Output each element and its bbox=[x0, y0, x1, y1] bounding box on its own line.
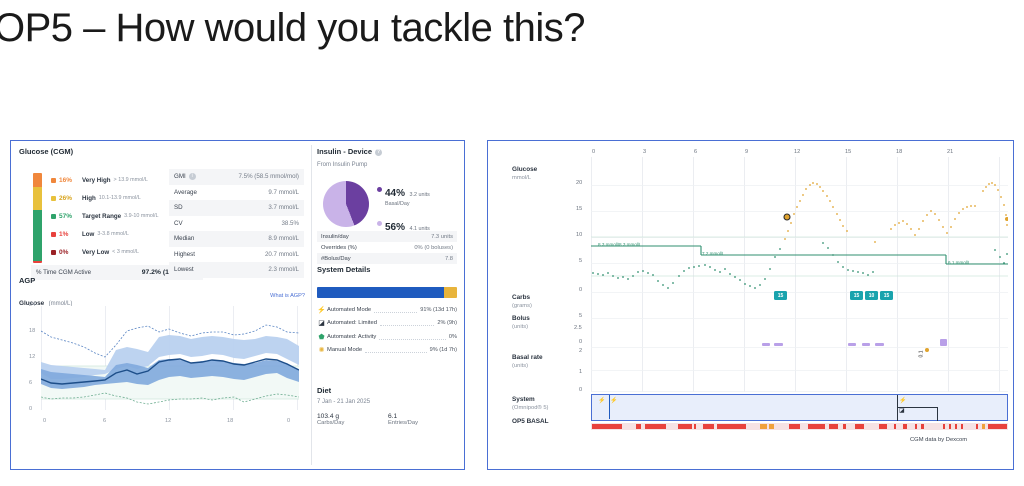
metric-key: SD bbox=[174, 204, 183, 211]
legend-range: < 3 mmol/L bbox=[112, 249, 139, 255]
metric-value: 3.7 mmol/L bbox=[268, 204, 299, 211]
x-tick: 6 bbox=[103, 418, 106, 424]
x-tick: 0 bbox=[43, 418, 46, 424]
table-row: #Bolus/Day 7.8 bbox=[317, 253, 457, 264]
basal-segment bbox=[949, 424, 951, 429]
row-sub-basal: (units) bbox=[512, 363, 528, 369]
target-label: 6.1 mmol/L bbox=[948, 260, 971, 265]
diet-section: Diet 7 Jan - 21 Jan 2025 103.4 g Carbs/D… bbox=[317, 386, 459, 426]
page-title: OP5 – How would you tackle this? bbox=[0, 6, 585, 51]
legend-range: 3.9-10 mmol/L bbox=[124, 213, 158, 219]
list-item: ✺ Manual Mode 9% (1d 7h) bbox=[317, 344, 457, 358]
row-label-op5-basal: OP5 BASAL bbox=[512, 418, 549, 425]
info-icon[interactable]: i bbox=[189, 173, 196, 180]
target-label: 8.3 mmol/L bbox=[598, 242, 621, 247]
mode-name: Automated Mode bbox=[327, 307, 371, 313]
bar-seg-high bbox=[33, 187, 42, 210]
diet-date-range: 7 Jan - 21 Jan 2025 bbox=[317, 399, 459, 405]
basal-segment bbox=[855, 424, 864, 429]
legend-name: Low bbox=[82, 231, 94, 238]
glucose-section-title: Glucose (CGM) bbox=[19, 147, 309, 156]
y-tick: 5 bbox=[579, 258, 582, 264]
gear-icon: ✺ bbox=[317, 346, 326, 354]
row-sub-carbs: (grams) bbox=[512, 303, 532, 309]
cgm-active-label: % Time CGM Active bbox=[36, 269, 91, 276]
system-mode-list: ⚡ Automated Mode 91% (13d 17h) ◪ Automat… bbox=[317, 303, 457, 357]
mode-value: 0% bbox=[449, 334, 457, 340]
legend-name: Very Low bbox=[82, 249, 109, 256]
basal-segment bbox=[843, 424, 846, 429]
basal-segment bbox=[915, 424, 917, 429]
basal-point-marker bbox=[925, 348, 929, 352]
mode-value: 91% (13d 17h) bbox=[420, 307, 457, 313]
table-row: Average 9.7 mmol/L bbox=[169, 185, 304, 201]
glucose-cgm-section: Glucose (CGM) 16% Very High > 13.9 mmol/… bbox=[19, 147, 309, 156]
agp-title: AGP bbox=[19, 276, 309, 285]
basal-segment bbox=[961, 424, 963, 429]
insulin-stats-table: Insulin/day 7.3 units Overrides (%) 0% (… bbox=[317, 231, 457, 264]
basal-units: 3.2 units bbox=[409, 192, 429, 198]
carb-entry-chip[interactable]: 10 bbox=[865, 291, 878, 300]
basal-segment bbox=[955, 424, 957, 429]
dot-leader bbox=[380, 318, 434, 326]
carbs-label: Carbs/Day bbox=[317, 420, 388, 426]
data-source-footer: CGM data by Dexcom bbox=[910, 437, 967, 443]
card-divider-2 bbox=[311, 271, 312, 465]
legend-pct: 16% bbox=[59, 177, 79, 184]
daily-view-card: 0 3 6 9 12 15 18 21 Glucose mmol/L Carbs… bbox=[487, 140, 1014, 470]
carb-entry-chip[interactable]: 15 bbox=[850, 291, 863, 300]
bolus-marker[interactable] bbox=[862, 343, 870, 346]
time-tick: 0 bbox=[592, 149, 595, 155]
legend-name: Very High bbox=[82, 177, 111, 184]
basal-annotation: 0.1 bbox=[918, 351, 924, 358]
bolt-icon: ⚡ bbox=[610, 397, 617, 404]
system-mode-bar bbox=[317, 287, 457, 298]
bar-seg-very-high bbox=[33, 173, 42, 187]
half-square-icon: ◪ bbox=[317, 319, 326, 327]
legend-name: Target Range bbox=[82, 213, 121, 220]
mode-name: Manual Mode bbox=[327, 347, 362, 353]
legend-pct: 26% bbox=[59, 195, 79, 202]
entries-label: Entries/Day bbox=[388, 420, 459, 426]
table-row: Insulin/day 7.3 units bbox=[317, 231, 457, 242]
stat-key: Insulin/day bbox=[321, 234, 349, 240]
y-tick: 20 bbox=[576, 180, 582, 186]
row-label-basal: Basal rate bbox=[512, 354, 543, 361]
swatch-icon bbox=[51, 196, 56, 201]
bolt-icon: ⚡ bbox=[317, 306, 326, 314]
mode-bracket bbox=[937, 407, 938, 421]
basal-segment bbox=[988, 424, 1007, 429]
x-tick: 0 bbox=[287, 418, 290, 424]
system-details-section: System Details Insulet Omnipod® 5 System… bbox=[317, 265, 459, 297]
agp-section: AGP Glucose (mmol/L) What is AGP? 24 18 … bbox=[19, 276, 309, 310]
row-label-system: System bbox=[512, 396, 535, 403]
insulin-title: Insulin - Device? bbox=[317, 147, 459, 156]
list-item: ◪ Automated: Limited 2% (9h) bbox=[317, 317, 457, 331]
swatch-icon bbox=[51, 250, 56, 255]
legend-range: 10.1-13.9 mmol/L bbox=[99, 195, 141, 201]
y-tick: 10 bbox=[576, 232, 582, 238]
basal-segment bbox=[592, 424, 622, 429]
time-tick: 3 bbox=[643, 149, 646, 155]
metric-value: 20.7 mmol/L bbox=[265, 251, 299, 258]
stat-value: 7.8 bbox=[445, 256, 453, 262]
agp-plot-svg bbox=[41, 306, 299, 414]
what-is-agp-link[interactable]: What is AGP? bbox=[270, 293, 305, 299]
legend-item-basal: 44% 3.2 units Basal/Day bbox=[377, 183, 430, 208]
swatch-icon bbox=[51, 178, 56, 183]
basal-pct: 44% bbox=[385, 188, 405, 199]
metric-key: GMIi bbox=[174, 173, 196, 180]
basal-label: Basal/Day bbox=[385, 201, 430, 208]
dot-leader bbox=[379, 332, 446, 340]
limited-mode-icon: ◪ bbox=[899, 407, 905, 414]
bar-automated bbox=[317, 287, 444, 298]
time-tick: 21 bbox=[947, 149, 953, 155]
table-row: CV 38.5% bbox=[169, 216, 304, 232]
row-label-bolus: Bolus bbox=[512, 315, 530, 322]
dot-leader bbox=[374, 305, 417, 313]
diet-stat-carbs: 103.4 g Carbs/Day bbox=[317, 413, 388, 426]
daily-plot-svg bbox=[591, 157, 1008, 407]
basal-segment bbox=[976, 424, 978, 429]
metric-value: 8.9 mmol/L bbox=[268, 235, 299, 242]
metric-value: 9.7 mmol/L bbox=[268, 189, 299, 196]
basal-segment bbox=[879, 424, 887, 429]
y-tick: 24 bbox=[29, 302, 35, 308]
y-tick: 5 bbox=[579, 313, 582, 319]
metric-key: Highest bbox=[174, 251, 195, 258]
basal-segment-override bbox=[760, 424, 767, 429]
carb-entry-chip[interactable]: 15 bbox=[880, 291, 893, 300]
entries-value: 6.1 bbox=[388, 413, 459, 420]
swatch-icon bbox=[51, 232, 56, 237]
metric-value: 7.5% (58.5 mmol/mol) bbox=[238, 173, 299, 180]
y-tick: 0 bbox=[579, 387, 582, 393]
carbs-value: 103.4 g bbox=[317, 413, 388, 420]
insulin-device-section: Insulin - Device? From Insulin Pump 44% … bbox=[317, 147, 459, 168]
diet-title: Diet bbox=[317, 386, 459, 395]
metric-key: Average bbox=[174, 189, 197, 196]
agp-chart: 24 18 12 6 0 0 6 12 18 0 bbox=[19, 306, 304, 436]
y-tick: 1 bbox=[579, 369, 582, 375]
target-label: 7.2 mmol/L bbox=[702, 251, 725, 256]
legend-pct: 1% bbox=[59, 231, 79, 238]
time-tick: 12 bbox=[794, 149, 800, 155]
basal-segment bbox=[894, 424, 896, 429]
basal-segment bbox=[829, 424, 838, 429]
basal-segment bbox=[789, 424, 800, 429]
glucose-metrics-table: GMIi 7.5% (58.5 mmol/mol) Average 9.7 mm… bbox=[169, 169, 304, 278]
bar-seg-target bbox=[33, 210, 42, 261]
time-tick: 9 bbox=[745, 149, 748, 155]
basal-segment bbox=[943, 424, 945, 429]
dot-leader bbox=[365, 345, 427, 353]
bolus-marker[interactable] bbox=[940, 339, 947, 346]
y-tick: 12 bbox=[29, 354, 35, 360]
legend-range: 3-3.8 mmol/L bbox=[97, 231, 128, 237]
system-mode-band bbox=[591, 394, 1008, 421]
carb-entry-chip[interactable]: 15 bbox=[774, 291, 787, 300]
basal-dot-icon bbox=[377, 187, 382, 192]
stat-key: #Bolus/Day bbox=[321, 256, 351, 262]
y-tick: 0 bbox=[579, 287, 582, 293]
time-tick: 6 bbox=[694, 149, 697, 155]
basal-segment-override bbox=[769, 424, 774, 429]
target-label: 8.3 mmol/L bbox=[619, 242, 642, 247]
agp-report-card: Glucose (CGM) 16% Very High > 13.9 mmol/… bbox=[10, 140, 465, 470]
basal-segment bbox=[921, 424, 924, 429]
bar-seg-low bbox=[33, 261, 42, 263]
stat-key: Overrides (%) bbox=[321, 245, 357, 251]
mode-name: Automated: Limited bbox=[327, 320, 377, 326]
y-tick: 6 bbox=[29, 380, 32, 386]
list-item: ⚡ Automated Mode 91% (13d 17h) bbox=[317, 303, 457, 317]
bolt-icon: ⚡ bbox=[598, 397, 605, 404]
shield-icon: ⬟ bbox=[317, 333, 326, 341]
insulin-source: From Insulin Pump bbox=[317, 162, 459, 168]
table-row: Median 8.9 mmol/L bbox=[169, 231, 304, 247]
basal-segment bbox=[645, 424, 666, 429]
bar-manual bbox=[444, 287, 457, 298]
mode-name: Automated: Activity bbox=[327, 334, 376, 340]
mode-value: 2% (9h) bbox=[437, 320, 457, 326]
bolus-marker[interactable] bbox=[762, 343, 770, 346]
list-item: ⬟ Automated: Activity 0% bbox=[317, 330, 457, 344]
diet-stat-entries: 6.1 Entries/Day bbox=[388, 413, 459, 426]
legend-range: > 13.9 mmol/L bbox=[114, 177, 148, 183]
basal-segment-override bbox=[982, 424, 985, 429]
basal-segment bbox=[703, 424, 714, 429]
help-icon[interactable]: ? bbox=[375, 149, 382, 156]
bolt-icon: ⚡ bbox=[899, 397, 906, 404]
basal-segment bbox=[694, 424, 696, 429]
row-sub-glucose: mmol/L bbox=[512, 175, 531, 181]
time-tick: 15 bbox=[845, 149, 851, 155]
y-tick: 18 bbox=[29, 328, 35, 334]
bolus-marker[interactable] bbox=[875, 343, 884, 346]
mode-divider bbox=[609, 395, 610, 419]
basal-segment bbox=[808, 424, 825, 429]
time-in-range-bar bbox=[33, 173, 42, 263]
row-label-carbs: Carbs bbox=[512, 294, 530, 301]
time-tick: 18 bbox=[896, 149, 902, 155]
stat-value: 0% (0 boluses) bbox=[414, 245, 453, 251]
table-row: Overrides (%) 0% (0 boluses) bbox=[317, 242, 457, 253]
table-row: SD 3.7 mmol/L bbox=[169, 200, 304, 216]
metric-value: 2.3 mmol/L bbox=[268, 266, 299, 273]
y-tick: 0 bbox=[579, 339, 582, 345]
bolus-dot-icon bbox=[377, 221, 382, 226]
metric-key: Lowest bbox=[174, 266, 194, 273]
y-tick: 15 bbox=[576, 206, 582, 212]
y-tick: 2.5 bbox=[574, 325, 582, 331]
row-sub-system: (Omnipod® 5) bbox=[512, 405, 549, 411]
legend-pct: 57% bbox=[59, 213, 79, 220]
stat-value: 7.3 units bbox=[431, 234, 453, 240]
table-row: GMIi 7.5% (58.5 mmol/mol) bbox=[169, 169, 304, 185]
metric-key: CV bbox=[174, 220, 183, 227]
legend-pct: 0% bbox=[59, 249, 79, 256]
basal-segment bbox=[717, 424, 746, 429]
basal-segment bbox=[678, 424, 692, 429]
y-tick: 2 bbox=[579, 348, 582, 354]
insulin-pie-chart bbox=[323, 181, 369, 227]
row-sub-bolus: (units) bbox=[512, 324, 528, 330]
metric-value: 38.5% bbox=[281, 220, 299, 227]
metric-key: Median bbox=[174, 235, 194, 242]
mode-value: 9% (1d 7h) bbox=[430, 347, 457, 353]
mode-divider bbox=[897, 395, 898, 421]
basal-segment bbox=[636, 424, 641, 429]
legend-name: High bbox=[82, 195, 96, 202]
x-tick: 18 bbox=[227, 418, 233, 424]
x-tick: 12 bbox=[165, 418, 171, 424]
y-tick: 0 bbox=[29, 406, 32, 412]
bolus-marker[interactable] bbox=[848, 343, 856, 346]
table-row: Highest 20.7 mmol/L bbox=[169, 247, 304, 263]
system-title: System Details bbox=[317, 265, 459, 274]
swatch-icon bbox=[51, 214, 56, 219]
bolus-marker[interactable] bbox=[774, 343, 783, 346]
row-label-glucose: Glucose bbox=[512, 166, 537, 173]
basal-segment bbox=[903, 424, 907, 429]
